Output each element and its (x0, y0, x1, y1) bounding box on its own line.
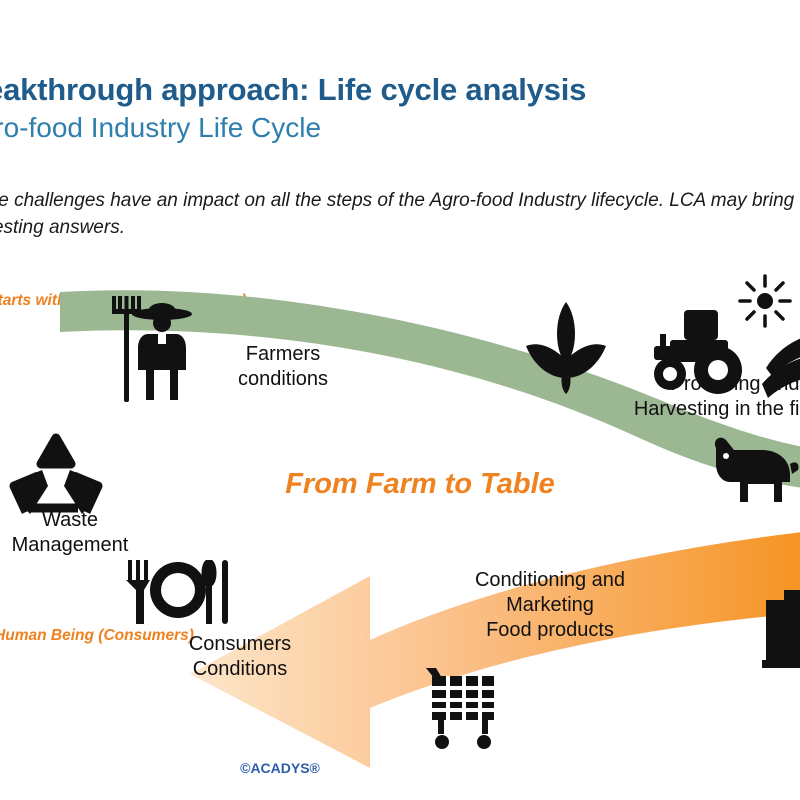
label-line: Food products (420, 618, 680, 643)
cow-icon (710, 430, 800, 510)
factory-icon (762, 560, 800, 670)
page-title: Breakthrough approach: Life cycle analys… (0, 72, 712, 108)
shopping-cart-icon (426, 664, 504, 750)
page-subtitle: Agro-food Industry Life Cycle (0, 112, 720, 144)
label-farmers-conditions: Farmers conditions (188, 342, 378, 392)
recycle-icon (8, 430, 104, 522)
label-line: Management (0, 533, 150, 558)
intro-paragraph: These challenges have an impact on all t… (0, 188, 800, 242)
field-icon (762, 318, 800, 404)
tractor-icon (640, 300, 750, 400)
label-consumers-conditions: Consumers Conditions (140, 632, 340, 682)
corn-icon (520, 300, 612, 396)
center-headline: From Farm to Table (210, 468, 630, 501)
farmer-icon (112, 296, 204, 406)
label-conditioning-marketing: Conditioning and Marketing Food products (420, 568, 680, 643)
label-line: Farmers (188, 342, 378, 367)
copyright-label: ©ACADYS® (200, 760, 360, 776)
label-line: conditions (188, 367, 378, 392)
label-line: Consumers (140, 632, 340, 657)
label-line: Conditioning and (420, 568, 680, 593)
label-line: Conditions (140, 657, 340, 682)
plate-cutlery-icon (122, 556, 232, 628)
label-line: Marketing (420, 593, 680, 618)
